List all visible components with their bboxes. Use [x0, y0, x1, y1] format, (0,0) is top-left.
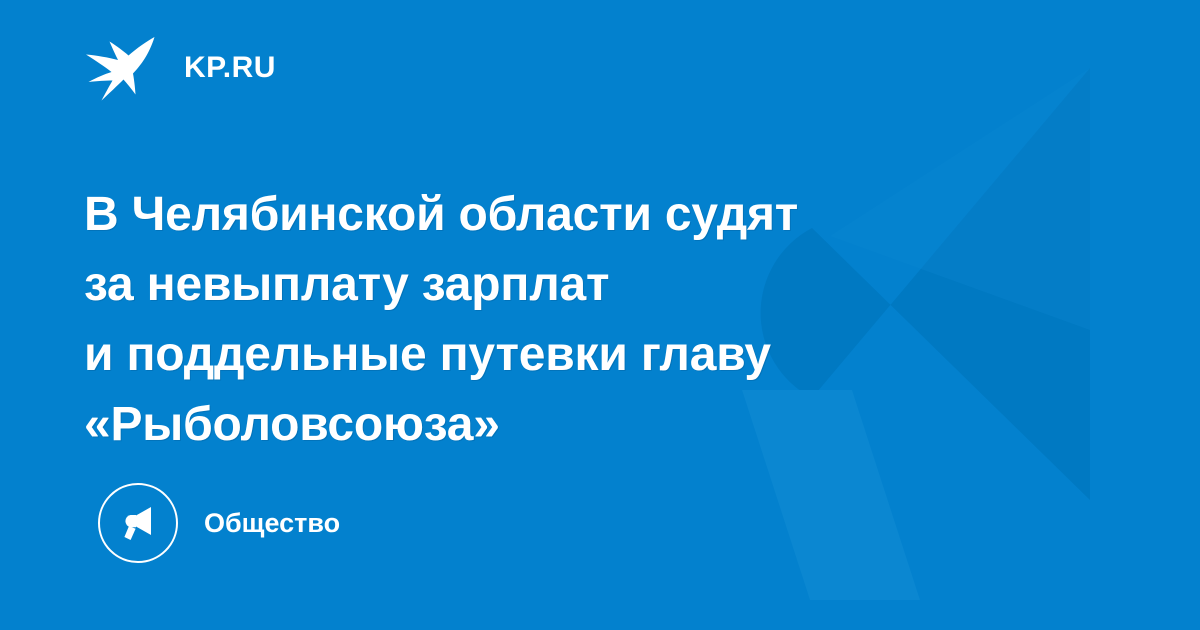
- logo-wordmark: KP.RU: [184, 53, 276, 83]
- category-label: Общество: [204, 510, 340, 537]
- headline: В Челябинской области судят за невыплату…: [84, 180, 984, 460]
- category-badge[interactable]: Общество: [98, 483, 340, 563]
- headline-line-3: и поддельные путевки главу: [84, 320, 984, 390]
- headline-line-1: В Челябинской области судят: [84, 180, 984, 250]
- megaphone-icon: [117, 502, 159, 544]
- headline-line-4: «Рыболовсоюза»: [84, 390, 984, 460]
- swallow-bird-icon: [84, 35, 158, 101]
- social-share-card: KP.RU В Челябинской области судят за нев…: [0, 0, 1200, 630]
- category-icon-circle: [98, 483, 178, 563]
- headline-line-2: за невыплату зарплат: [84, 250, 984, 320]
- site-logo[interactable]: KP.RU: [84, 32, 276, 104]
